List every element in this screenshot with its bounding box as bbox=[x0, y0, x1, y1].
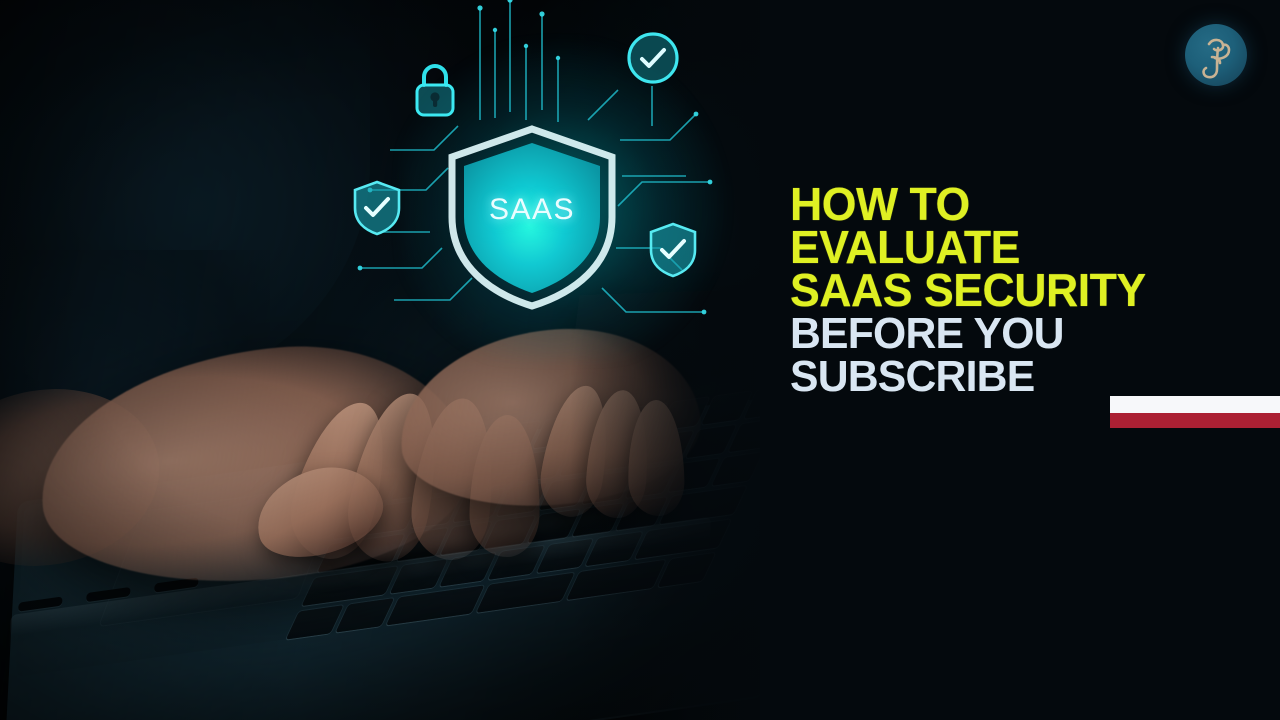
security-hologram: SAAS bbox=[330, 0, 750, 360]
shield-check-icon-left bbox=[352, 180, 402, 236]
headline-line-2: EVALUATE bbox=[790, 226, 1246, 269]
shield-label: SAAS bbox=[446, 193, 618, 227]
headline-line-4: BEFORE YOU bbox=[790, 312, 1246, 355]
banner-canvas: SAAS HOW TO EVALUATE SAAS SECURITY BEFOR… bbox=[0, 0, 1280, 720]
headline-line-1: HOW TO bbox=[790, 183, 1246, 226]
accent-bar bbox=[1110, 396, 1280, 428]
headline-line-3: SAAS SECURITY bbox=[790, 269, 1246, 312]
headline-line-5: SUBSCRIBE bbox=[790, 355, 1246, 398]
check-circle-icon bbox=[625, 30, 681, 86]
shield-icon: SAAS bbox=[446, 125, 618, 310]
accent-bar-white bbox=[1110, 396, 1280, 413]
lock-icon bbox=[408, 60, 462, 122]
brand-monogram-icon bbox=[1185, 24, 1247, 86]
shield-check-icon-right bbox=[648, 222, 698, 278]
headline-block: HOW TO EVALUATE SAAS SECURITY BEFORE YOU… bbox=[790, 183, 1260, 398]
accent-bar-red bbox=[1110, 413, 1280, 428]
brand-logo[interactable] bbox=[1185, 24, 1247, 86]
